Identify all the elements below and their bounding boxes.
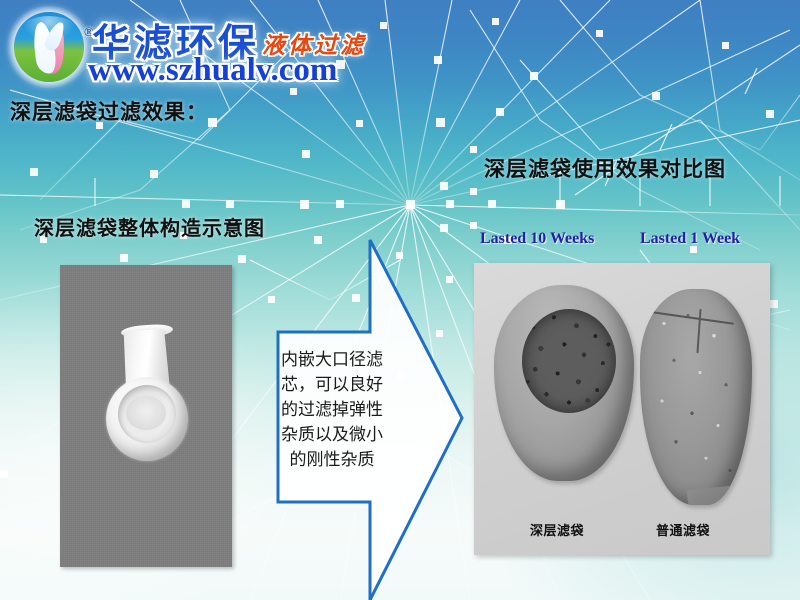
used-standard-filter-bag: [640, 289, 752, 505]
slide-canvas: ® 华滤环保 液体过滤 www.szhualv.com 深层滤袋过滤效果： 深层…: [0, 0, 800, 600]
content-layer: ® 华滤环保 液体过滤 www.szhualv.com 深层滤袋过滤效果： 深层…: [0, 0, 800, 600]
right-panel-heading: 深层滤袋使用效果对比图: [484, 153, 726, 183]
company-logo[interactable]: ®: [6, 6, 92, 88]
used-depth-filter-bag-opening: [522, 309, 616, 413]
left-panel-heading: 深层滤袋整体构造示意图: [34, 212, 265, 241]
label-lasted-10-weeks: Lasted 10 Weeks: [480, 230, 594, 248]
photo-caption-depth-bag: 深层滤袋: [530, 520, 584, 539]
trapped-debris-texture: [522, 309, 616, 413]
callout-line-2: 芯，可以良好: [280, 373, 384, 398]
callout-line-5: 的刚性杂质: [280, 448, 384, 473]
label-lasted-1-week: Lasted 1 Week: [640, 230, 740, 248]
callout-text: 内嵌大口径滤 芯，可以良好 的过滤掉弹性 杂质以及微小 的刚性杂质: [280, 348, 384, 473]
logo-circle-icon: [14, 12, 84, 82]
filter-bag-inner-core: [126, 396, 166, 430]
callout-line-3: 的过滤掉弹性: [280, 398, 384, 423]
standard-bag-surface-texture: [646, 295, 746, 499]
brand-website-url[interactable]: www.szhualv.com: [88, 52, 337, 89]
product-photo-depth-filter-bag: [60, 265, 232, 567]
callout-line-1: 内嵌大口径滤: [280, 348, 384, 373]
page-title: 深层滤袋过滤效果：: [10, 96, 208, 126]
photo-caption-standard-bag: 普通滤袋: [656, 520, 710, 539]
comparison-photo-used-filter-bags: 深层滤袋 普通滤袋: [474, 263, 770, 555]
callout-line-4: 杂质以及微小: [280, 423, 384, 448]
